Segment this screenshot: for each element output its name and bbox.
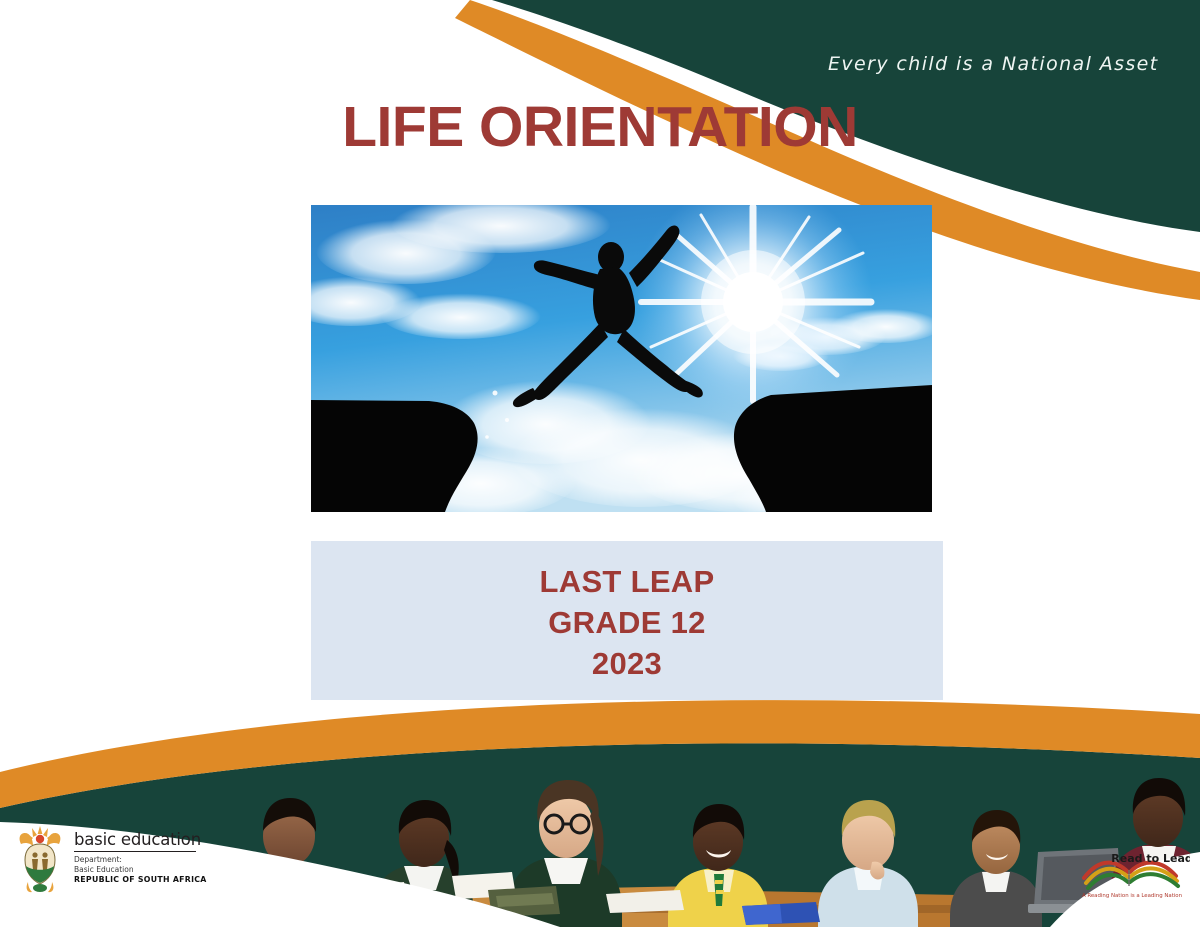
dbe-logo: basic education Department: Basic Educat… (14, 817, 229, 899)
read-to-lead-tagline: A Reading Nation is a Leading Nation (1082, 893, 1182, 899)
presentation-slide: Every child is a National Asset LIFE ORI… (0, 0, 1200, 927)
read-to-lead-title: Read to Lead (1111, 852, 1190, 865)
subtitle-line-2: GRADE 12 (548, 603, 705, 644)
dbe-divider (74, 851, 196, 852)
subtitle-line-1: LAST LEAP (540, 562, 715, 603)
dbe-department-name: Basic Education (74, 865, 229, 875)
header-tagline: Every child is a National Asset (828, 53, 1188, 75)
read-to-lead-logo: Read to Lead A Reading Nation is a Leadi… (1078, 846, 1190, 902)
subtitle-line-3: 2023 (592, 644, 662, 685)
dbe-department-label: Department: (74, 855, 229, 865)
page-title: LIFE ORIENTATION (300, 98, 900, 158)
hero-image-leap (311, 205, 932, 512)
subtitle-textbox: LAST LEAP GRADE 12 2023 (311, 541, 943, 706)
south-african-coat-of-arms-icon (14, 822, 66, 894)
right-cliff (734, 385, 932, 512)
dbe-country: REPUBLIC OF SOUTH AFRICA (74, 875, 207, 884)
dbe-wordmark: basic education (74, 831, 229, 849)
